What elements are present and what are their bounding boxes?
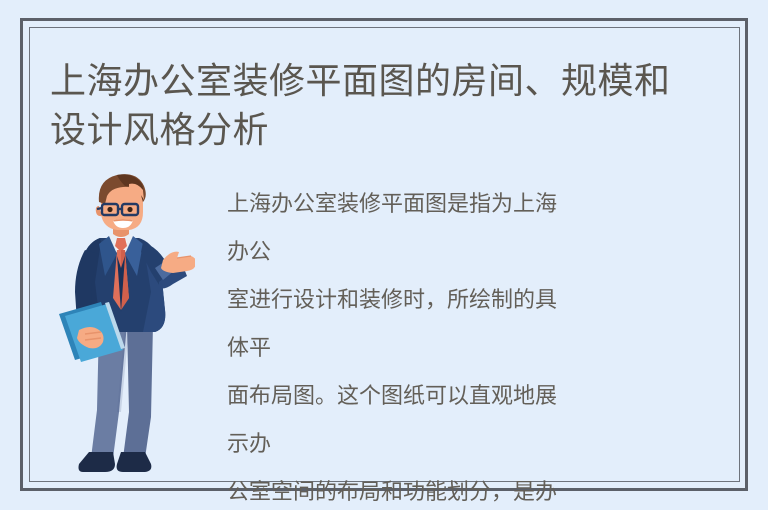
businessman-svg (55, 172, 195, 477)
page-canvas: 上海办公室装修平面图的房间、规模和 设计风格分析 (0, 0, 768, 510)
businessman-presenting-illustration (55, 172, 195, 477)
shoe-right (117, 452, 152, 472)
article-body-text: 上海办公室装修平面图是指为上海办公 室进行设计和装修时，所绘制的具体平 面布局图… (227, 180, 567, 510)
leg-right (123, 324, 153, 458)
page-title: 上海办公室装修平面图的房间、规模和 设计风格分析 (50, 56, 710, 154)
eye-right (127, 207, 132, 212)
eye-left (107, 207, 112, 212)
hand-right-open-palm (161, 252, 195, 273)
shoe-left (79, 452, 116, 472)
